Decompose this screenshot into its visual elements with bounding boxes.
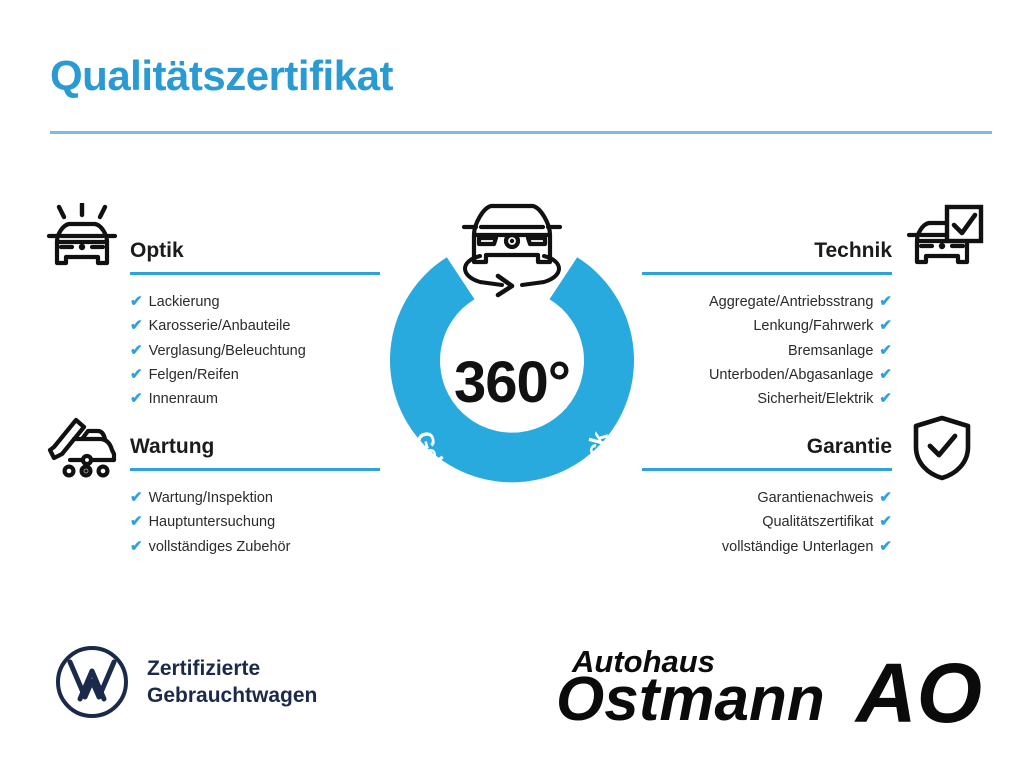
section-wartung-list: ✔Wartung/Inspektion ✔Hauptuntersuchung ✔…	[130, 486, 380, 559]
check-icon: ✔	[879, 513, 892, 530]
list-item: Unterboden/Abgasanlage✔	[642, 363, 892, 387]
list-item: ✔Lackierung	[130, 290, 380, 314]
list-item: Bremsanlage✔	[642, 339, 892, 363]
section-technik-list: Aggregate/Antriebsstrang✔ Lenkung/Fahrwe…	[642, 290, 892, 411]
list-item: ✔Innenraum	[130, 387, 380, 411]
car-service-pen-icon	[44, 414, 120, 485]
section-optik: Optik ✔Lackierung ✔Karosserie/Anbauteile…	[130, 236, 380, 411]
shield-check-icon	[910, 414, 974, 487]
list-item: ✔Felgen/Reifen	[130, 363, 380, 387]
dealer-name: Ostmann	[556, 665, 825, 734]
list-item: ✔Karosserie/Anbauteile	[130, 314, 380, 338]
check-icon: ✔	[130, 366, 143, 383]
section-garantie-header: Garantie	[642, 432, 892, 472]
check-icon: ✔	[879, 342, 892, 359]
check-icon: ✔	[130, 317, 143, 334]
badge-center-label: 360°	[372, 349, 652, 416]
title-divider	[50, 131, 992, 134]
vw-text-line2: Gebrauchtwagen	[147, 682, 317, 709]
badge-curve-text: Gebrauchtwagen-Check	[411, 428, 613, 494]
section-wartung-header: Wartung	[130, 432, 380, 472]
dealer-logo: Autohaus Ostmann AO	[556, 636, 986, 736]
list-item-label: Bremsanlage	[788, 343, 873, 359]
dealer-monogram: AO	[854, 646, 982, 736]
list-item-label: Lenkung/Fahrwerk	[753, 318, 873, 334]
check-icon: ✔	[879, 293, 892, 310]
list-item: Aggregate/Antriebsstrang✔	[642, 290, 892, 314]
car-front-checkbox-icon	[905, 203, 985, 280]
section-technik: Technik Aggregate/Antriebsstrang✔ Lenkun…	[642, 236, 892, 411]
list-item-label: Aggregate/Antriebsstrang	[709, 294, 873, 310]
list-item-label: Hauptuntersuchung	[149, 514, 276, 530]
page-title: Qualitätszertifikat	[50, 52, 393, 100]
section-optik-title: Optik	[130, 236, 380, 266]
list-item-label: Lackierung	[149, 294, 220, 310]
list-item: ✔Verglasung/Beleuchtung	[130, 339, 380, 363]
list-item-label: Felgen/Reifen	[149, 367, 239, 383]
check-icon: ✔	[130, 342, 143, 359]
list-item-label: Garantienachweis	[757, 490, 873, 506]
check-icon: ✔	[130, 538, 143, 555]
vw-certified-text: Zertifizierte Gebrauchtwagen	[147, 655, 317, 709]
section-garantie: Garantie Garantienachweis✔ Qualitätszert…	[642, 432, 892, 559]
check-icon: ✔	[879, 390, 892, 407]
check-icon: ✔	[879, 317, 892, 334]
check-icon: ✔	[130, 293, 143, 310]
section-optik-list: ✔Lackierung ✔Karosserie/Anbauteile ✔Verg…	[130, 290, 380, 411]
section-wartung-title: Wartung	[130, 432, 380, 462]
section-garantie-divider	[642, 468, 892, 471]
list-item: Lenkung/Fahrwerk✔	[642, 314, 892, 338]
section-wartung: Wartung ✔Wartung/Inspektion ✔Hauptunters…	[130, 432, 380, 559]
car-front-rotate-icon	[450, 194, 574, 300]
list-item-label: Unterboden/Abgasanlage	[709, 367, 873, 383]
certificate-page: Qualitätszertifikat	[0, 0, 1024, 768]
section-garantie-title: Garantie	[642, 432, 892, 462]
check-icon: ✔	[879, 489, 892, 506]
section-technik-title: Technik	[642, 236, 892, 266]
section-optik-header: Optik	[130, 236, 380, 276]
list-item: ✔Wartung/Inspektion	[130, 486, 380, 510]
list-item: Garantienachweis✔	[642, 486, 892, 510]
list-item: ✔vollständiges Zubehör	[130, 535, 380, 559]
list-item: ✔Hauptuntersuchung	[130, 510, 380, 534]
check-icon: ✔	[879, 538, 892, 555]
ao-monogram-icon: Autohaus Ostmann AO	[556, 636, 986, 736]
list-item-label: vollständiges Zubehör	[149, 539, 291, 555]
list-item-label: Sicherheit/Elektrik	[757, 391, 873, 407]
svg-text:Gebrauchtwagen-Check: Gebrauchtwagen-Check	[411, 428, 613, 494]
list-item-label: Verglasung/Beleuchtung	[149, 343, 306, 359]
section-garantie-list: Garantienachweis✔ Qualitätszertifikat✔ v…	[642, 486, 892, 559]
list-item: vollständige Unterlagen✔	[642, 535, 892, 559]
section-technik-divider	[642, 272, 892, 275]
vw-text-line1: Zertifizierte	[147, 655, 317, 682]
list-item-label: Innenraum	[149, 391, 218, 407]
vw-certified-logo: Zertifizierte Gebrauchtwagen	[55, 645, 317, 719]
check-icon: ✔	[130, 513, 143, 530]
list-item-label: Qualitätszertifikat	[762, 514, 873, 530]
section-optik-divider	[130, 272, 380, 275]
list-item-label: Karosserie/Anbauteile	[149, 318, 291, 334]
section-wartung-divider	[130, 468, 380, 471]
check-icon: ✔	[130, 489, 143, 506]
badge-360-gebrauchtwagen-check: Gebrauchtwagen-Check 360°	[372, 194, 652, 494]
list-item: Qualitätszertifikat✔	[642, 510, 892, 534]
list-item-label: vollständige Unterlagen	[722, 539, 874, 555]
check-icon: ✔	[879, 366, 892, 383]
vw-logo-icon	[55, 645, 129, 719]
section-technik-header: Technik	[642, 236, 892, 276]
car-front-shine-icon	[44, 203, 120, 280]
list-item-label: Wartung/Inspektion	[149, 490, 273, 506]
list-item: Sicherheit/Elektrik✔	[642, 387, 892, 411]
check-icon: ✔	[130, 390, 143, 407]
